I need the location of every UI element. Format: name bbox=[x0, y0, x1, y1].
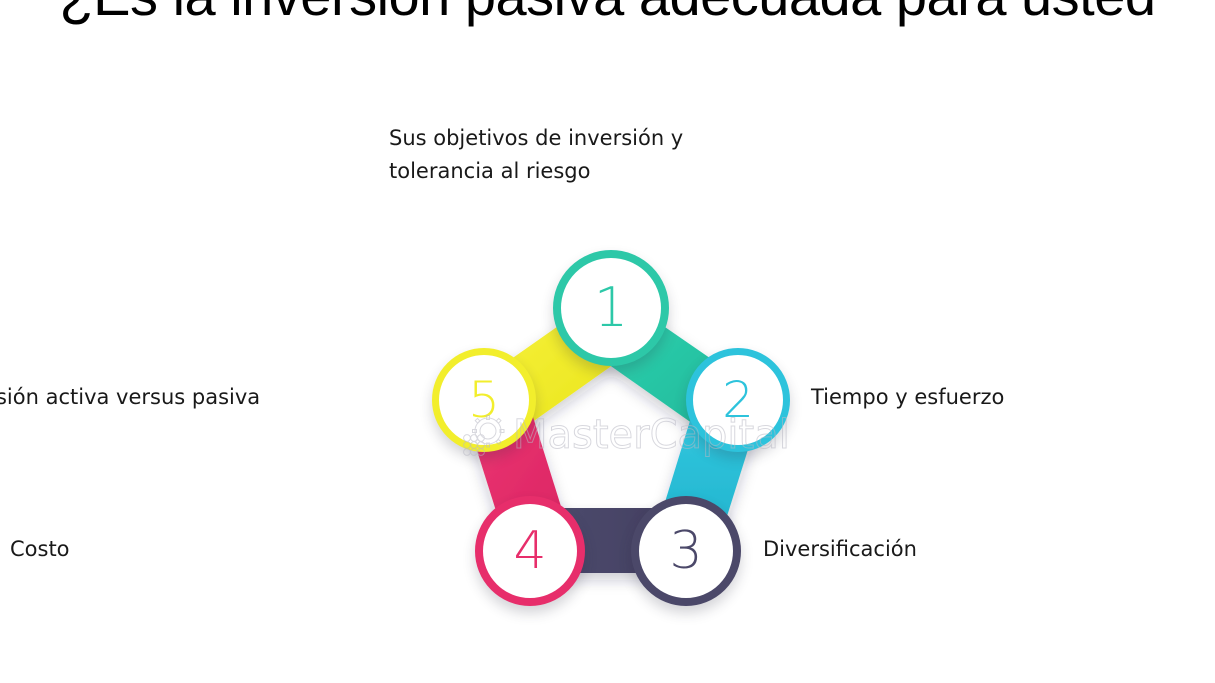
pentagon-node-3[interactable]: 3 bbox=[631, 496, 741, 606]
node-number-3: 3 bbox=[669, 525, 702, 577]
node-number-4: 4 bbox=[513, 525, 546, 577]
pentagon-diagram: 1 2 3 4 5 bbox=[415, 235, 815, 635]
page-title: ¿Es la inversión pasiva adecuada para us… bbox=[0, 0, 1215, 28]
node-number-5: 5 bbox=[468, 375, 500, 425]
node-label-4: Costo bbox=[10, 533, 310, 566]
node-number-1: 1 bbox=[594, 281, 628, 335]
node-label-1: Sus objetivos de inversión y tolerancia … bbox=[389, 122, 809, 188]
node-number-2: 2 bbox=[722, 375, 754, 425]
pentagon-node-1[interactable]: 1 bbox=[553, 250, 669, 366]
pentagon-node-2[interactable]: 2 bbox=[686, 348, 790, 452]
pentagon-node-5[interactable]: 5 bbox=[432, 348, 536, 452]
pentagon-node-4[interactable]: 4 bbox=[475, 496, 585, 606]
slide-canvas: ¿Es la inversión pasiva adecuada para us… bbox=[0, 0, 1215, 683]
node-label-5: versión activa versus pasiva bbox=[0, 381, 372, 414]
node-label-2: Tiempo y esfuerzo bbox=[811, 381, 1141, 414]
